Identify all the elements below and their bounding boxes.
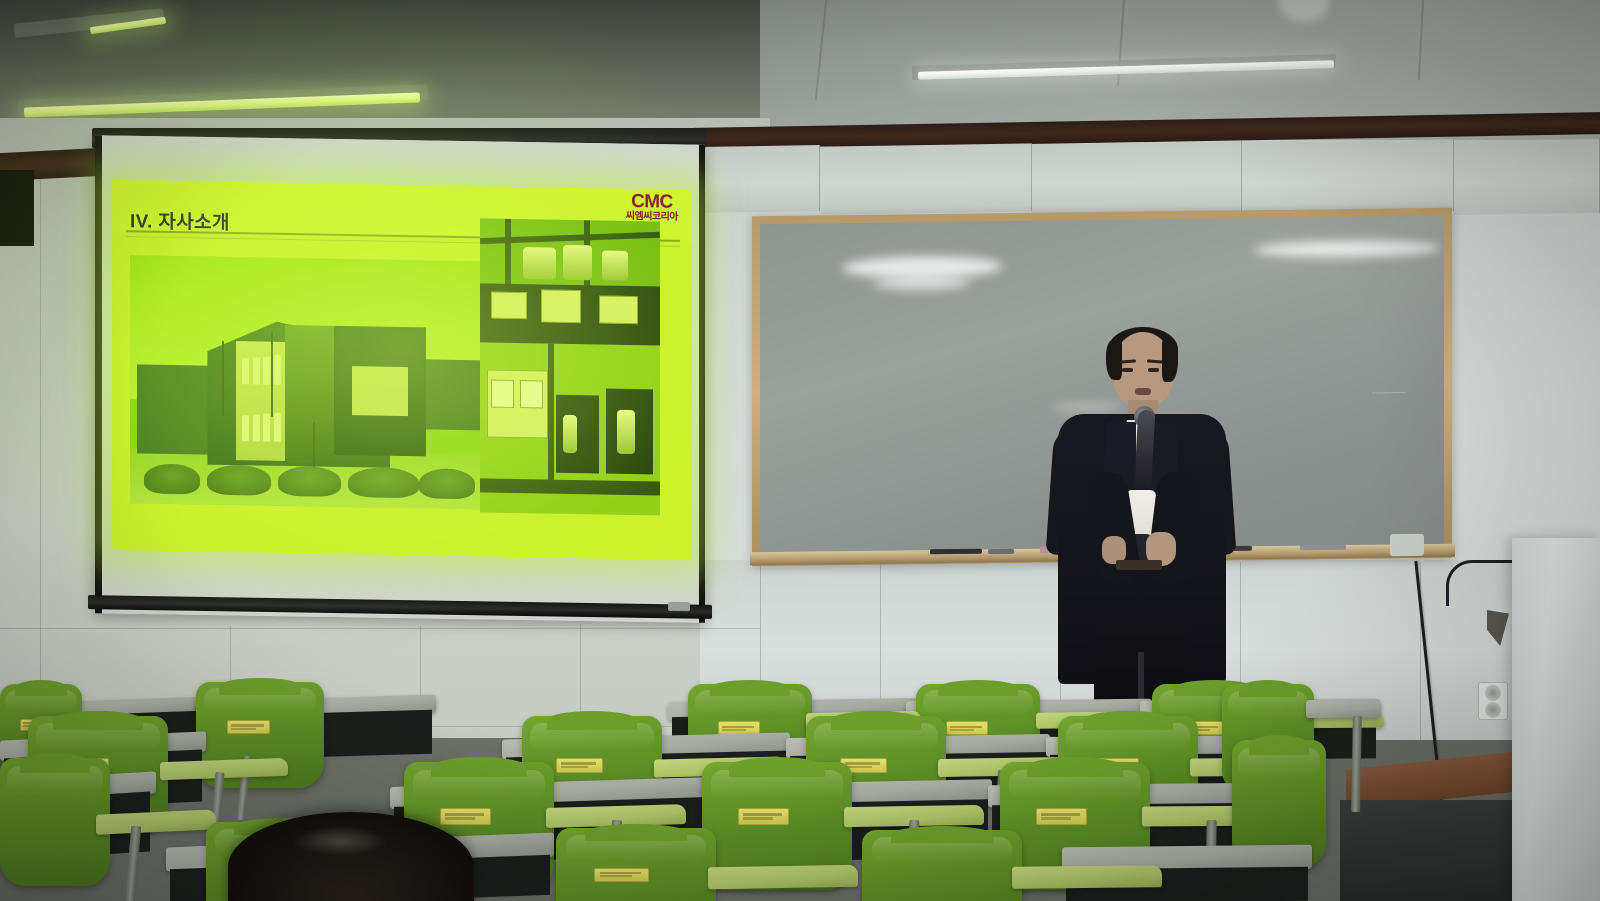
chair-back-notch [710,680,789,697]
photo-building-wing [137,364,214,455]
chair-back-notch [891,826,993,844]
chair-asset-tag [227,720,271,734]
slide-photo-building [130,255,482,509]
chair-asset-tag [594,868,648,882]
power-cable-bend [1446,560,1516,606]
wall-panel-seam [40,180,41,710]
chair-asset-tag [440,808,491,825]
chair[interactable] [556,828,716,901]
upper-cabinet-panel [1032,141,1242,214]
upper-cabinet-panel [820,143,1032,214]
projected-slide: IV. 자사소개 CMC 씨엠씨코리아 [112,180,692,560]
chair-back-notch [1249,735,1309,755]
wall-outlet[interactable] [1478,682,1508,720]
slide-photo-production-floor [480,342,660,515]
chair-back-notch [547,711,637,730]
presenter-belt [1116,560,1162,570]
chair-tablet-arm [96,809,216,834]
lectern-cabinet[interactable] [1512,538,1600,901]
lecture-hall-photo: IV. 자사소개 CMC 씨엠씨코리아 [0,0,1600,901]
chair-back-notch [1239,680,1298,698]
photo-shrubbery [207,465,270,496]
whiteboard-eraser-block[interactable] [1390,534,1424,556]
chair-back-notch [1027,757,1123,777]
wall-corner-shadow [0,170,34,246]
whiteboard-marker[interactable] [1300,545,1346,551]
upper-cabinet-panel [1242,139,1454,214]
presenter-eye [1122,368,1133,372]
chair-tablet-arm [708,865,858,890]
chair-back [0,758,110,886]
chair-back-notch [1083,711,1173,730]
chair[interactable] [862,830,1022,901]
desk-leg [1351,716,1362,812]
presenter [1040,322,1240,722]
presenter-mouth [1135,388,1151,395]
presenter-eye [1148,368,1159,372]
desk [1306,700,1380,718]
floor-dark-area [1340,800,1540,901]
whiteboard-residual-mark: ――― [1372,386,1405,398]
photo-building-right-panel [352,366,408,417]
wall-outlet-socket[interactable] [1485,685,1501,701]
upper-cabinet-panel [1454,139,1600,215]
chair[interactable] [0,758,110,886]
chair-tablet-arm [1012,865,1162,889]
chair-back-notch [431,757,527,777]
chair-asset-tag [556,758,604,773]
photo-shrubbery [419,469,475,500]
chair-back-notch [938,680,1017,697]
presenter-hair-side [1162,340,1178,382]
chair-back-notch [20,753,90,773]
chair-back-notch [53,711,143,730]
chair-back-notch [15,680,67,695]
chair-asset-tag [1036,808,1087,825]
chair-asset-tag [946,721,988,735]
chair-back-notch [729,757,825,777]
photo-shrubbery [144,464,200,495]
photo-shrubbery [348,467,418,498]
photo-pole [271,332,273,416]
whiteboard-eraser[interactable] [930,549,982,555]
photo-building-glass-atrium [285,325,334,462]
photo-pole [222,341,224,415]
audience-member-hair-sheen [292,826,388,856]
wall-panel-seam [0,628,760,629]
whiteboard-marker[interactable] [988,549,1014,554]
slide-photo-production-line [480,218,660,346]
logo-mark-text: CMC [626,192,678,213]
chair-back-notch [219,678,301,695]
photo-building-far [426,360,482,430]
chair-back-notch [831,711,921,730]
chair-asset-tag [738,808,789,825]
photo-shrubbery [278,466,341,497]
chair-back-notch [585,824,687,842]
wall-panel-seam [580,624,581,718]
projection-screen-pull-knob[interactable] [668,602,690,611]
wall-outlet-socket[interactable] [1485,702,1501,718]
company-logo: CMC 씨엠씨코리아 [626,192,678,223]
upper-cabinet-panel [700,145,820,213]
